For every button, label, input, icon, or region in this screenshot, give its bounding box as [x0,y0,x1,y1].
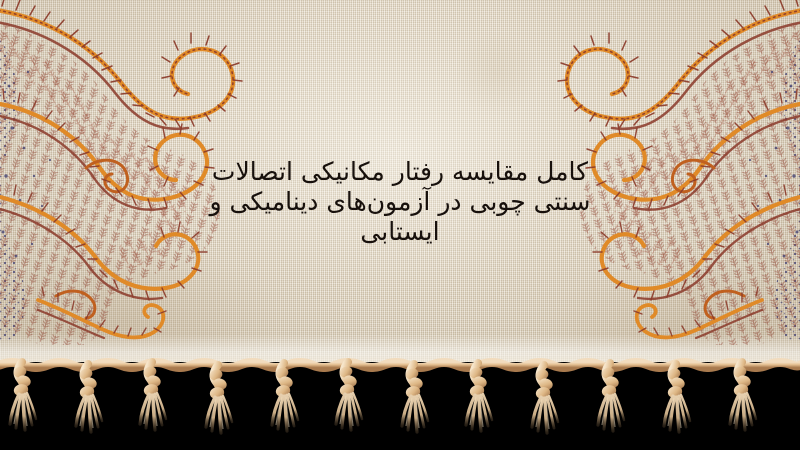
fringe-background [0,362,800,450]
title-line-2: سنتی چوبی در آزمون‌های دینامیکی و [180,187,620,217]
page-title: کامل مقایسه رفتار مکانیکی اتصالات سنتی چ… [180,157,620,247]
title-line-1: کامل مقایسه رفتار مکانیکی اتصالات [180,157,620,187]
title-line-3: ایستابی [180,217,620,247]
slide-canvas: کامل مقایسه رفتار مکانیکی اتصالات سنتی چ… [0,0,800,450]
